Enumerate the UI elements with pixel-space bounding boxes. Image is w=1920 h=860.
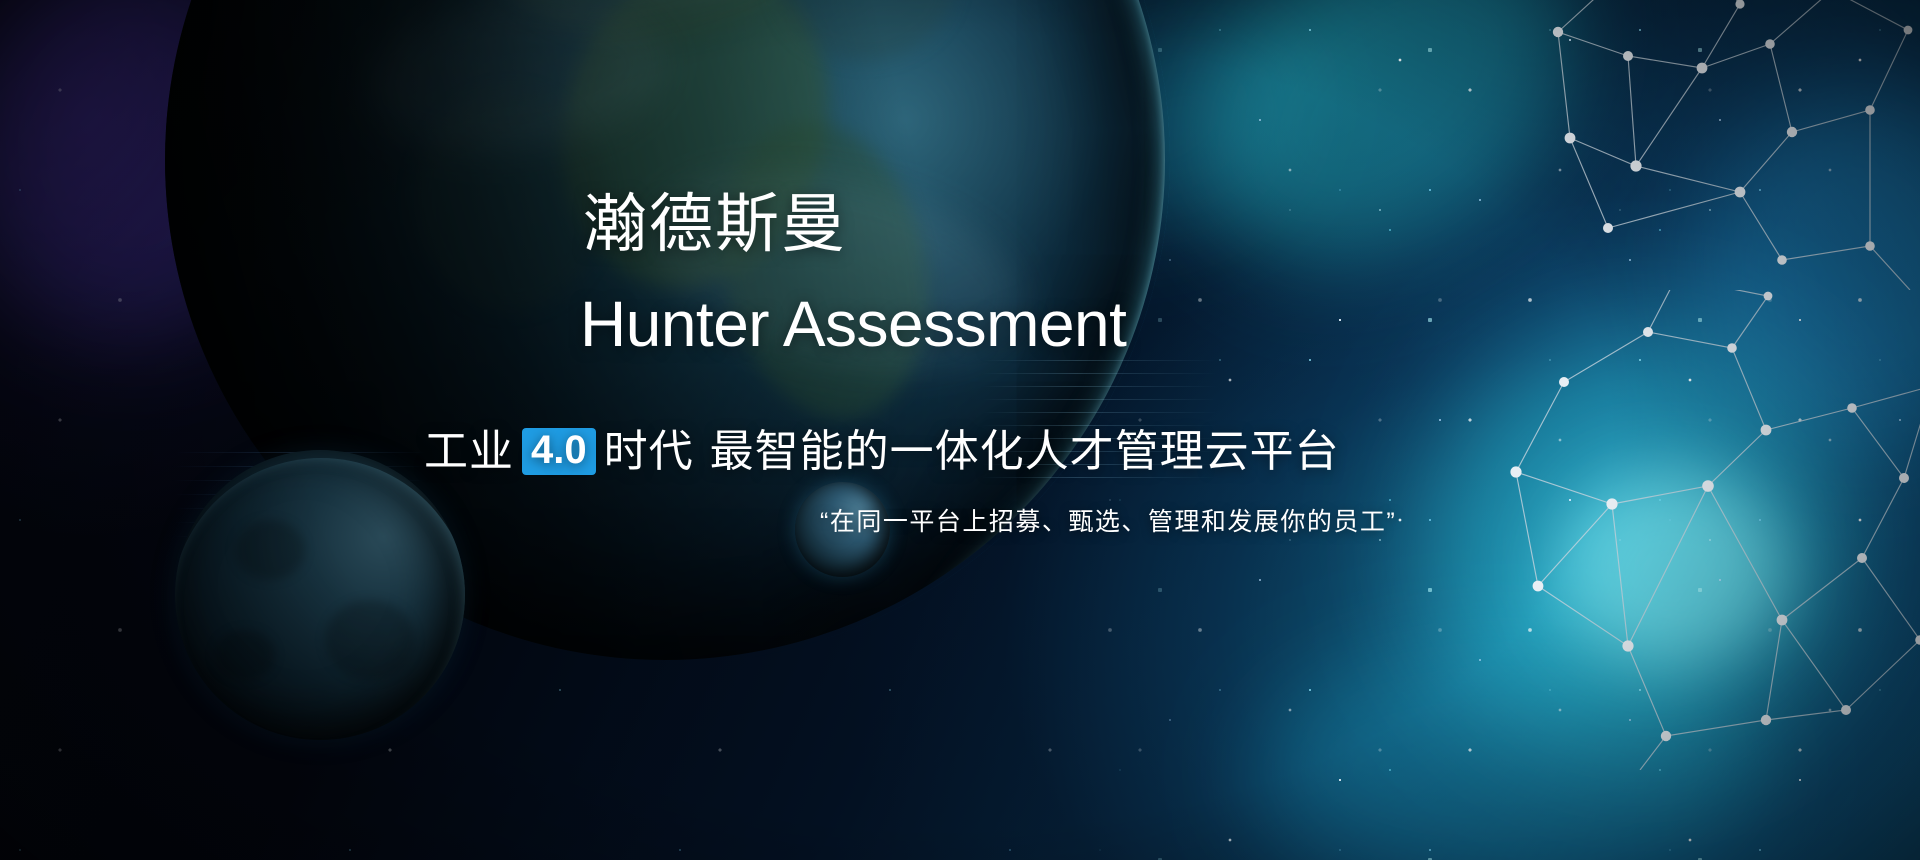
hero-copy: 瀚德斯曼 Hunter Assessment 工业 4.0 时代 最智能的一体化…	[0, 0, 1920, 860]
hero-banner: 瀚德斯曼 Hunter Assessment 工业 4.0 时代 最智能的一体化…	[0, 0, 1920, 860]
industry-version-badge: 4.0	[522, 428, 596, 475]
subtitle-era: 时代	[604, 430, 694, 474]
subtitle-prefix: 工业	[424, 430, 514, 474]
hero-tagline: “在同一平台上招募、甄选、管理和发展你的员工”	[820, 510, 1396, 535]
hero-subtitle: 工业 4.0 时代 最智能的一体化人才管理云平台	[424, 428, 1340, 475]
brand-name-en: Hunter Assessment	[580, 292, 1126, 356]
brand-name-cn: 瀚德斯曼	[583, 192, 847, 256]
subtitle-tail: 最智能的一体化人才管理云平台	[710, 430, 1340, 474]
